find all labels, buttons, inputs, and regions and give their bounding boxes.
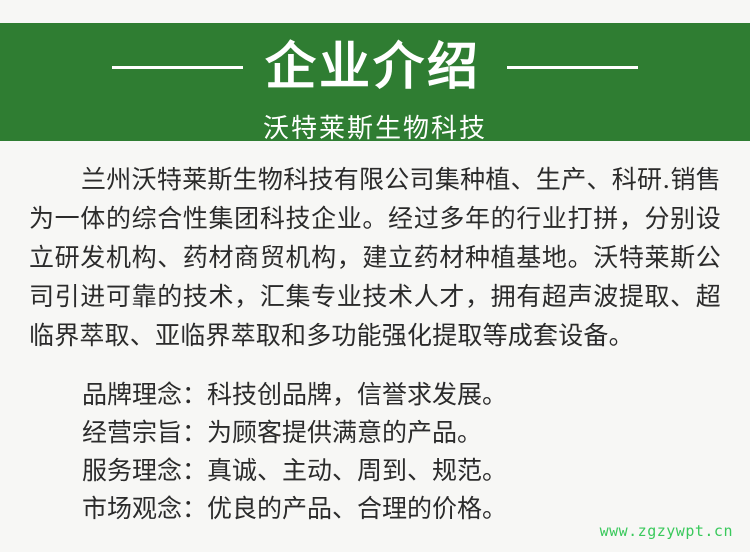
creed-value: 为顾客提供满意的产品。 bbox=[207, 418, 482, 447]
header-banner: 企业介绍 沃特莱斯生物科技 bbox=[0, 23, 750, 141]
creed-value: 优良的产品、合理的价格。 bbox=[207, 494, 507, 523]
left-rule-icon bbox=[112, 66, 243, 69]
creed-value: 真诚、主动、周到、规范。 bbox=[207, 456, 507, 485]
creed-value: 科技创品牌，信誉求发展。 bbox=[207, 380, 507, 409]
creed-label: 品牌理念： bbox=[82, 380, 207, 409]
page-title: 企业介绍 bbox=[265, 38, 481, 96]
list-item: 服务理念：真诚、主动、周到、规范。 bbox=[29, 452, 721, 490]
creed-label: 服务理念： bbox=[82, 456, 207, 485]
company-introduction-page: 企业介绍 沃特莱斯生物科技 兰州沃特莱斯生物科技有限公司集种植、生产、科研.销售… bbox=[0, 0, 750, 552]
creed-list: 品牌理念：科技创品牌，信誉求发展。 经营宗旨：为顾客提供满意的产品。 服务理念：… bbox=[29, 376, 721, 528]
right-rule-icon bbox=[507, 66, 638, 69]
site-watermark: www.zgzywpt.cn bbox=[600, 522, 733, 540]
intro-paragraph: 兰州沃特莱斯生物科技有限公司集种植、生产、科研.销售为一体的综合性集团科技企业。… bbox=[29, 160, 721, 355]
creed-label: 经营宗旨： bbox=[82, 418, 207, 447]
list-item: 品牌理念：科技创品牌，信誉求发展。 bbox=[29, 376, 721, 414]
intro-body: 兰州沃特莱斯生物科技有限公司集种植、生产、科研.销售为一体的综合性集团科技企业。… bbox=[29, 160, 721, 355]
banner-subtitle: 沃特莱斯生物科技 bbox=[0, 113, 750, 141]
creed-label: 市场观念： bbox=[82, 494, 207, 523]
banner-title-row: 企业介绍 bbox=[0, 36, 750, 98]
list-item: 经营宗旨：为顾客提供满意的产品。 bbox=[29, 414, 721, 452]
